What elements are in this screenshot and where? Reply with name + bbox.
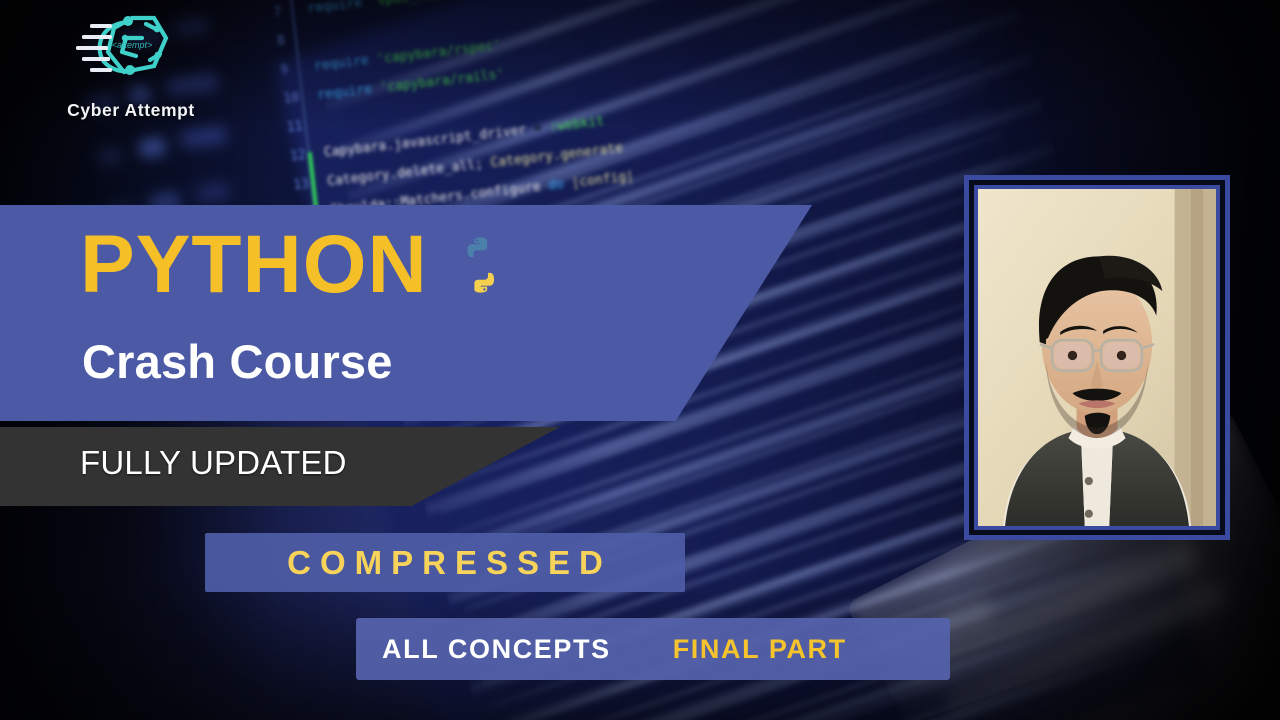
svg-text:<attempt>: <attempt> — [112, 40, 153, 50]
channel-name: Cyber Attempt — [36, 100, 226, 121]
final-part-label: FINAL PART — [673, 634, 847, 665]
channel-branding: <attempt> Cyber Attempt — [36, 8, 226, 133]
all-concepts-label: ALL CONCEPTS — [382, 634, 611, 665]
fully-updated-label: FULLY UPDATED — [80, 444, 347, 482]
instructor-portrait-photo-icon — [978, 189, 1216, 526]
python-logo-icon — [450, 234, 512, 296]
instructor-portrait-frame — [964, 175, 1230, 540]
compressed-label: COMPRESSED — [205, 533, 685, 592]
thumbnail-canvas: 7require 'spec_rails' 8 9require 'capyba… — [0, 0, 1280, 720]
footer-row: ALL CONCEPTS FINAL PART — [356, 618, 950, 680]
hero-title-row: PYTHON — [80, 224, 512, 306]
instructor-portrait-inner-frame — [974, 185, 1220, 530]
page-title: PYTHON — [80, 224, 428, 306]
cyber-attempt-hex-circuit-logo-icon: <attempt> — [70, 8, 180, 86]
page-subtitle: Crash Course — [82, 338, 393, 385]
